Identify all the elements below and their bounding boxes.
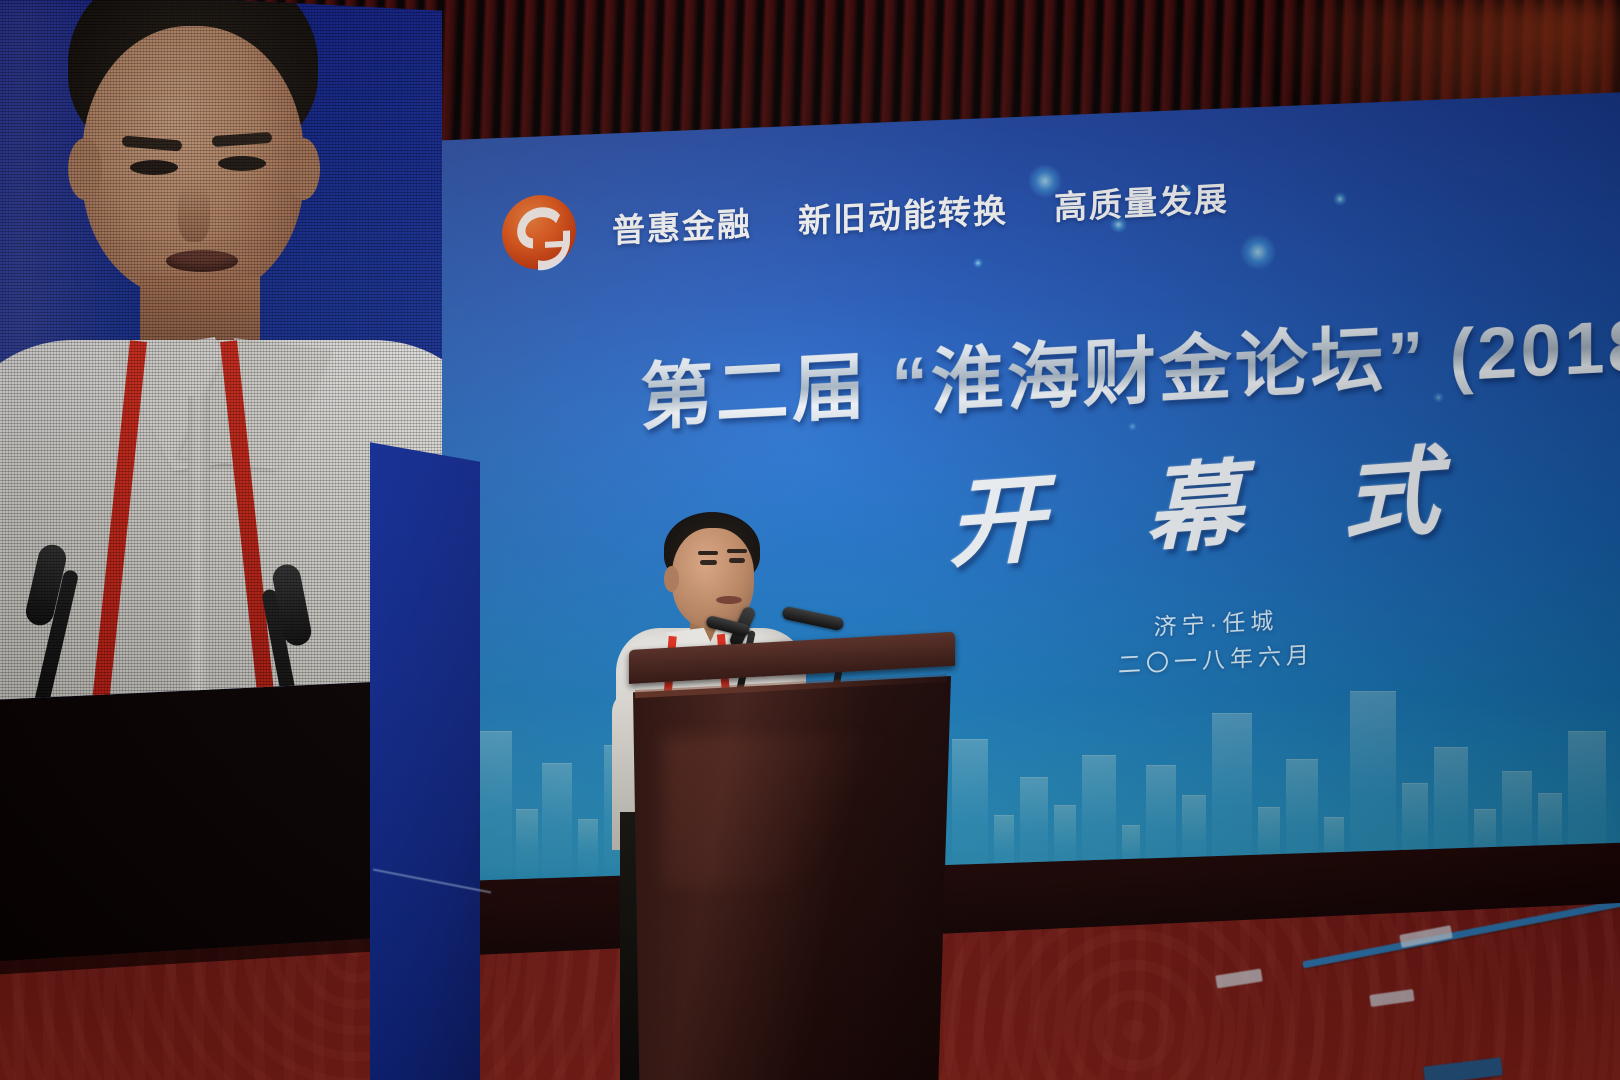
led-wall-side-panel: [370, 442, 480, 1080]
backdrop-content-layer: 普惠金融 新旧动能转换 高质量发展 第二届 “淮海财金论坛” (2018) 开 …: [428, 29, 1620, 882]
huaihai-finance-logo-icon: [500, 190, 578, 274]
podium-highlight: [663, 736, 913, 886]
speaker-mouth: [716, 596, 742, 604]
speaker-ear: [664, 566, 679, 592]
speaker-brow-left: [698, 551, 718, 555]
speaker-eye-left: [700, 560, 717, 565]
conference-stage-photo: 普惠金融 新旧动能转换 高质量发展 第二届 “淮海财金论坛” (2018) 开 …: [0, 0, 1620, 1080]
tagline-item-1: 普惠金融: [612, 197, 752, 252]
backdrop-place-date: 济宁·任城 二〇一八年六月: [1118, 602, 1314, 684]
backdrop-header-row: 普惠金融 新旧动能转换 高质量发展: [500, 156, 1229, 274]
speaker-brow-right: [727, 549, 747, 553]
backdrop-ceremony-title: 开 幕 式: [947, 411, 1474, 587]
speaking-podium: [629, 650, 955, 1080]
podium-body: [633, 676, 951, 1080]
main-stage-backdrop: 普惠金融 新旧动能转换 高质量发展 第二届 “淮海财金论坛” (2018) 开 …: [428, 92, 1620, 882]
tagline-item-2: 新旧动能转换: [798, 184, 1008, 243]
backdrop-main-title: 第二届 “淮海财金论坛” (2018): [640, 284, 1620, 444]
tagline-item-3: 高质量发展: [1054, 172, 1229, 229]
speaker-eye-right: [729, 558, 745, 563]
backdrop-tagline: 普惠金融 新旧动能转换 高质量发展: [612, 172, 1229, 252]
